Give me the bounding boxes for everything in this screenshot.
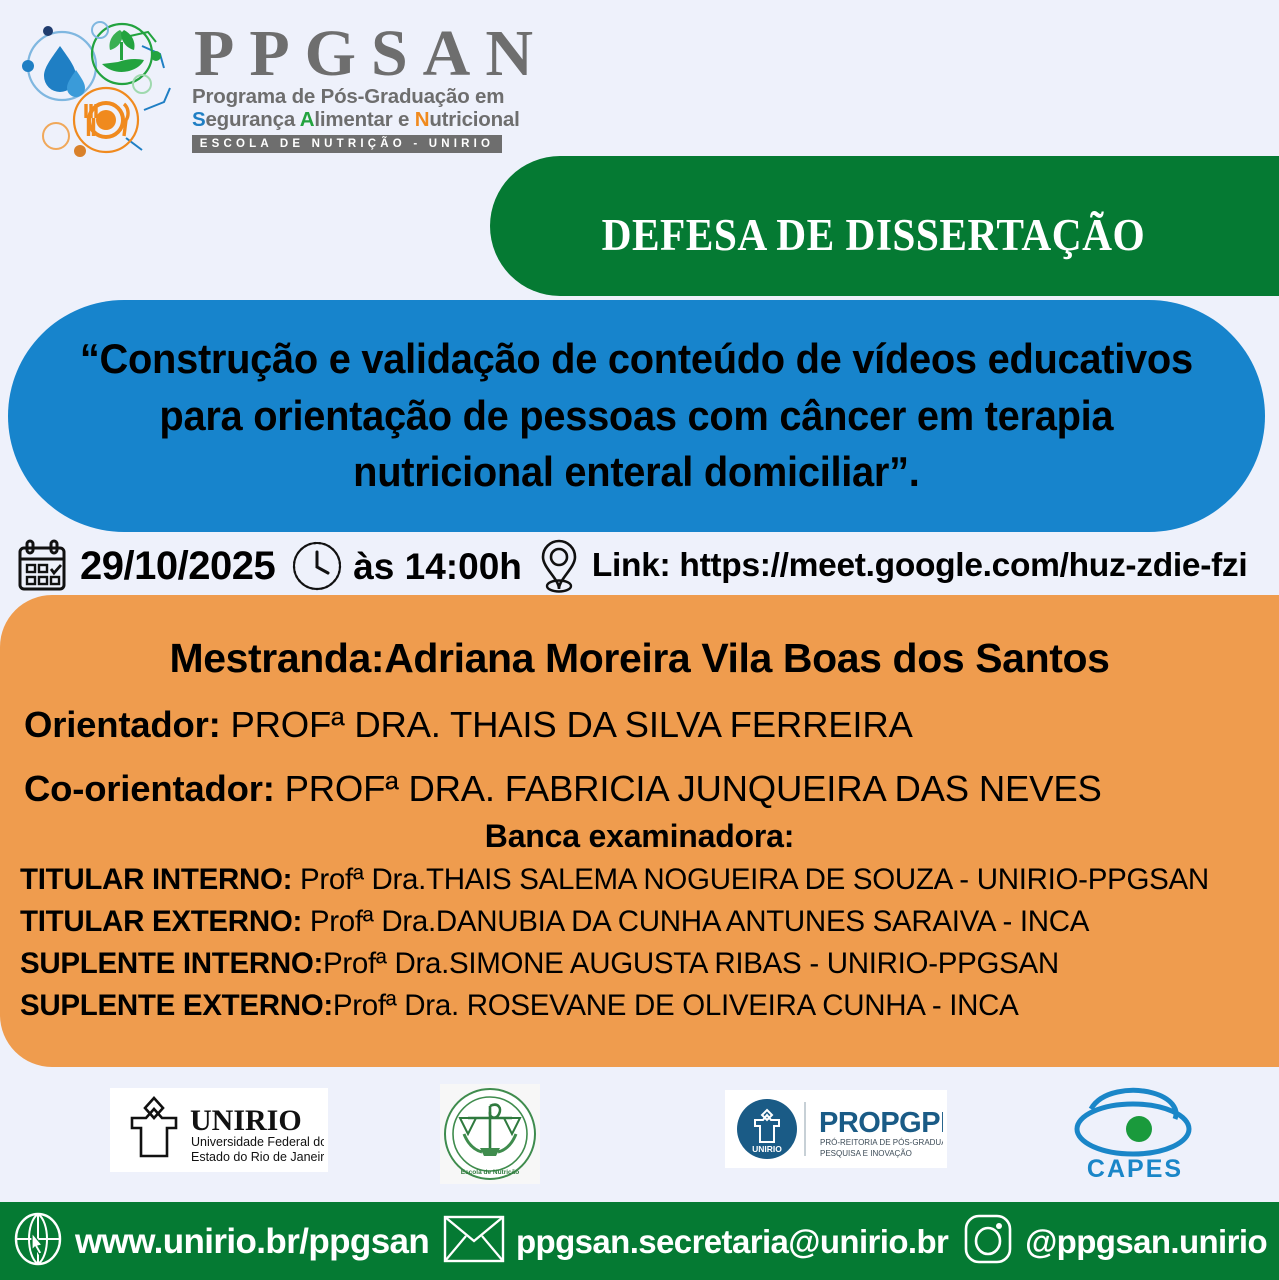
footer-email-text[interactable]: ppgsan.secretaria@unirio.br: [516, 1225, 948, 1258]
footer-instagram-item[interactable]: @ppgsan.unirio: [962, 1212, 1267, 1271]
unirio-logo: UNIRIO Universidade Federal do Estado do…: [110, 1088, 328, 1172]
sponsor-logo-row: UNIRIO Universidade Federal do Estado do…: [0, 1080, 1279, 1190]
board-member-row: TITULAR INTERNO: Profª Dra.THAIS SALEMA …: [14, 863, 1265, 897]
propgpi-sub2: PESQUISA E INOVAÇÃO: [820, 1149, 912, 1158]
dissertation-title-block: “Construção e validação de conteúdo de v…: [8, 300, 1265, 532]
propgpi-logo: UNIRIO PROPGPI PRÓ-REITORIA DE PÓS-GRADU…: [725, 1090, 947, 1168]
svg-text:UNIRIO: UNIRIO: [752, 1144, 782, 1154]
board-member-row: SUPLENTE INTERNO:Profª Dra.SIMONE AUGUST…: [14, 947, 1265, 981]
people-block: Mestranda:Adriana Moreira Vila Boas dos …: [0, 595, 1279, 1067]
event-meta-row: 29/10/2025 às 14:00h Link: https://meet.…: [16, 536, 1274, 596]
contact-footer: www.unirio.br/ppgsan ppgsan.secretaria@u…: [0, 1202, 1279, 1280]
ppgsan-acronym: PPGSAN: [194, 23, 502, 86]
envelope-icon: [443, 1214, 505, 1269]
capes-logo: CAPES: [1060, 1084, 1210, 1184]
board-name: Profª Dra.DANUBIA DA CUNHA ANTUNES SARAI…: [302, 905, 1089, 938]
globe-icon: [12, 1211, 64, 1272]
location-pin-icon: [536, 538, 582, 594]
board-role: TITULAR INTERNO:: [20, 863, 292, 896]
advisor-label: Orientador:: [24, 704, 221, 745]
instagram-icon: [962, 1212, 1014, 1271]
board-name: Profª Dra. ROSEVANE DE OLIVEIRA CUNHA - …: [333, 989, 1019, 1022]
footer-website-text[interactable]: www.unirio.br/ppgsan: [75, 1224, 429, 1259]
footer-instagram-text[interactable]: @ppgsan.unirio: [1025, 1225, 1267, 1258]
escola-nutricao-seal: Escola de Nutrição: [440, 1084, 540, 1184]
ppgsan-subtitle-line2: Segurança Alimentar e Nutricional: [192, 109, 502, 132]
coadvisor-name: PROFª DRA. FABRICIA JUNQUEIRA DAS NEVES: [285, 768, 1102, 809]
board-role: SUPLENTE EXTERNO:: [20, 989, 333, 1022]
svg-text:CAPES: CAPES: [1087, 1155, 1183, 1183]
banner-title: DEFESA DE DISSERTAÇÃO: [602, 209, 1145, 261]
coadvisor-label: Co-orientador:: [24, 768, 275, 809]
student-name: Adriana Moreira Vila Boas dos Santos: [384, 635, 1109, 681]
ppgsan-logo: PPGSAN Programa de Pós-Graduação em Segu…: [14, 14, 514, 162]
event-time: às 14:00h: [353, 548, 522, 585]
student-line: Mestranda:Adriana Moreira Vila Boas dos …: [14, 635, 1265, 682]
clock-icon: [291, 540, 343, 592]
board-member-row: TITULAR EXTERNO: Profª Dra.DANUBIA DA CU…: [14, 905, 1265, 939]
unirio-sub1: Universidade Federal do: [191, 1135, 324, 1149]
board-heading: Banca examinadora:: [14, 818, 1265, 855]
board-member-row: SUPLENTE EXTERNO:Profª Dra. ROSEVANE DE …: [14, 989, 1265, 1023]
board-name: Profª Dra.THAIS SALEMA NOGUEIRA DE SOUZA…: [292, 863, 1209, 896]
ppgsan-wordmark: PPGSAN Programa de Pós-Graduação em Segu…: [192, 23, 502, 152]
unirio-sub2: Estado do Rio de Janeiro: [191, 1150, 324, 1164]
svg-text:PROPGPI: PROPGPI: [819, 1107, 943, 1139]
propgpi-sub1: PRÓ-REITORIA DE PÓS-GRADUAÇÃO,: [820, 1138, 943, 1147]
board-role: TITULAR EXTERNO:: [20, 905, 302, 938]
defense-banner: DEFESA DE DISSERTAÇÃO: [490, 156, 1279, 296]
ppgsan-school-strip: ESCOLA DE NUTRIÇÃO - UNIRIO: [192, 135, 502, 153]
event-date: 29/10/2025: [80, 546, 275, 586]
footer-email-item[interactable]: ppgsan.secretaria@unirio.br: [443, 1214, 948, 1269]
advisor-line: Orientador: PROFª DRA. THAIS DA SILVA FE…: [14, 704, 1265, 746]
dissertation-title: “Construção e validação de conteúdo de v…: [57, 331, 1215, 500]
student-label: Mestranda:: [169, 635, 384, 681]
meeting-link[interactable]: Link: https://meet.google.com/huz-zdie-f…: [592, 549, 1248, 583]
calendar-icon: [16, 539, 68, 593]
ppgsan-logo-mark: [14, 18, 184, 158]
escola-caption: Escola de Nutrição: [461, 1169, 520, 1176]
ppgsan-subtitle-line1: Programa de Pós-Graduação em: [192, 86, 502, 109]
board-role: SUPLENTE INTERNO:: [20, 947, 323, 980]
footer-website-item[interactable]: www.unirio.br/ppgsan: [12, 1211, 429, 1272]
svg-text:UNIRIO: UNIRIO: [190, 1104, 302, 1137]
board-name: Profª Dra.SIMONE AUGUSTA RIBAS - UNIRIO-…: [323, 947, 1059, 980]
coadvisor-line: Co-orientador: PROFª DRA. FABRICIA JUNQU…: [14, 768, 1265, 810]
advisor-name: PROFª DRA. THAIS DA SILVA FERREIRA: [231, 704, 913, 745]
